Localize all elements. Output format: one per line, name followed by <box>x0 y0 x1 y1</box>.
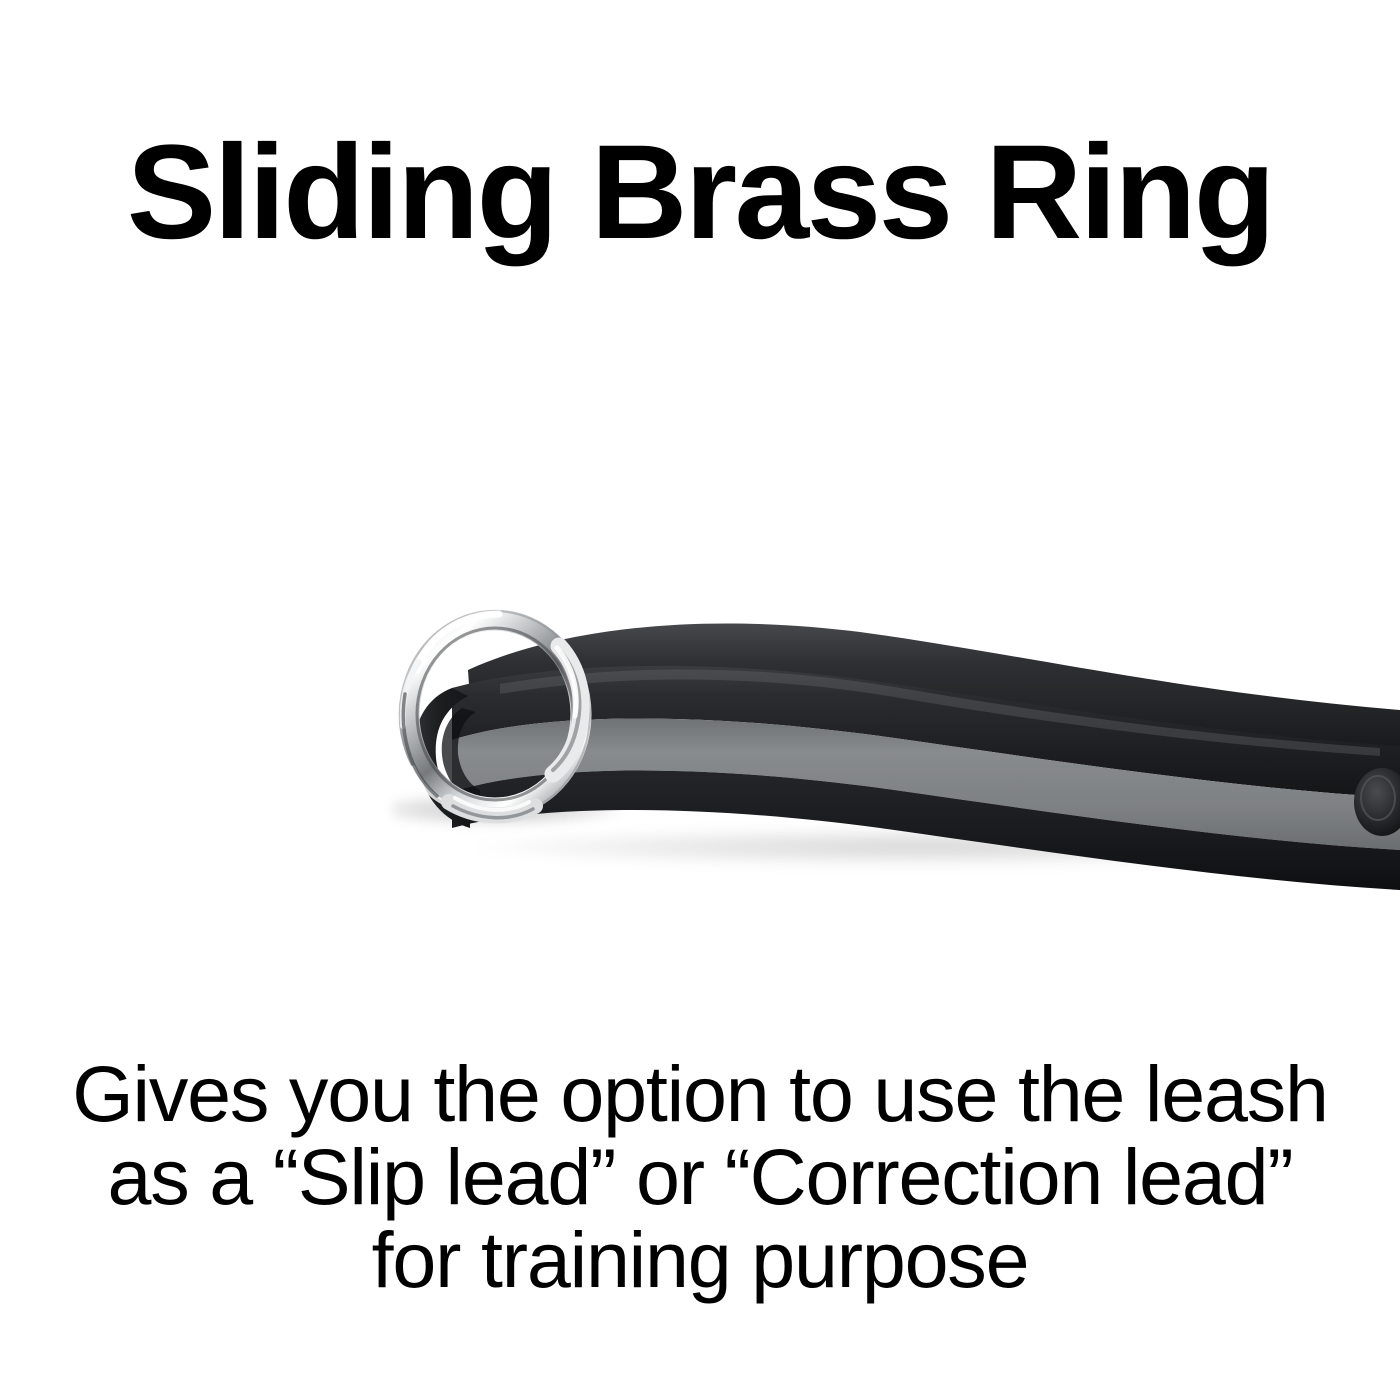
description-line-1: Gives you the option to use the leash <box>0 1052 1400 1135</box>
leash-strap-graphic <box>0 560 1400 940</box>
sliding-brass-ring-graphic <box>383 606 613 826</box>
product-description: Gives you the option to use the leash as… <box>0 1052 1400 1301</box>
product-image <box>0 560 1400 940</box>
product-feature-card: Sliding Brass Ring <box>0 0 1400 1400</box>
page-title: Sliding Brass Ring <box>0 126 1400 260</box>
description-line-2: as a “Slip lead” or “Correction lead” <box>0 1135 1400 1218</box>
description-line-3: for training purpose <box>0 1218 1400 1301</box>
